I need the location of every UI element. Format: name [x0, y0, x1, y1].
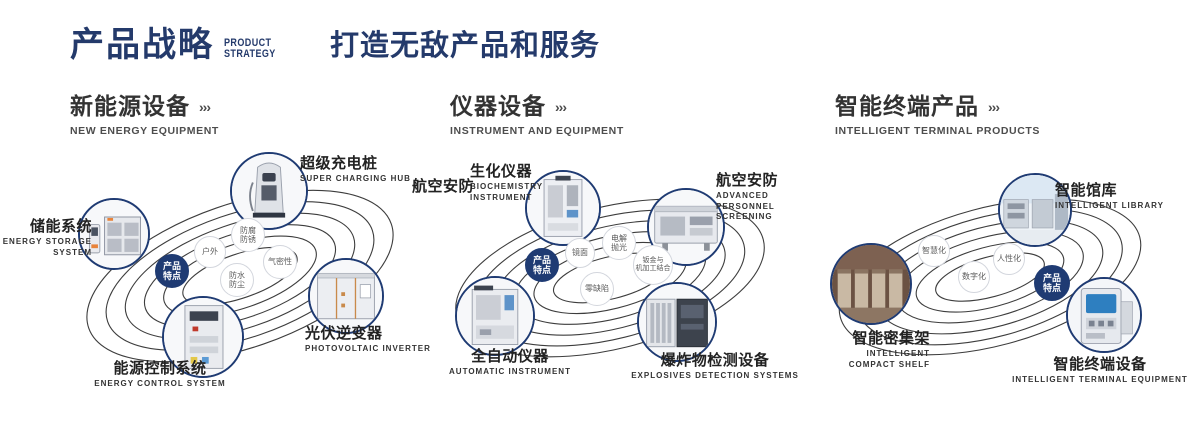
feature-line1: 镜面: [572, 248, 588, 257]
label-cn: 智能密集架: [790, 330, 930, 347]
label-super-charging-hub: 超级充电桩 SUPER CHARGING HUB: [300, 155, 430, 185]
feature-bubble[interactable]: 气密性: [263, 245, 297, 279]
feature-line1: 数字化: [962, 272, 986, 281]
label-en: AUTOMATIC INSTRUMENT: [430, 367, 590, 377]
section-title-en: NEW ENERGY EQUIPMENT: [70, 125, 219, 137]
feature-center-line2: 特点: [163, 271, 181, 281]
feature-center-line2: 特点: [533, 265, 551, 275]
inverter-cabinet-icon: [310, 260, 382, 332]
label-en: SUPER CHARGING HUB: [300, 174, 430, 184]
feature-line2: 机加工结合: [636, 265, 671, 273]
label-intelligent-library: 智能馆库 INTELLIGENT LIBRARY: [1055, 182, 1195, 212]
label-energy-storage-system: 储能系统 ENERGY STORAGE SYSTEM: [0, 218, 92, 258]
section-header-new-energy: 新能源设备 ››› NEW ENERGY EQUIPMENT: [70, 95, 219, 137]
label-cn: 全自动仪器: [430, 348, 590, 365]
label-en: INTELLIGENT LIBRARY: [1055, 201, 1195, 211]
label-energy-control-system: 能源控制系统 ENERGY CONTROL SYSTEM: [75, 360, 245, 390]
page-subtitle: 打造无敌产品和服务: [330, 30, 600, 63]
page-title-en: PRODUCT STRATEGY: [224, 38, 276, 60]
feature-center-bubble[interactable]: 产品 特点: [1034, 265, 1070, 301]
feature-center-bubble[interactable]: 产品 特点: [525, 248, 559, 282]
label-cn: 光伏逆变器: [305, 325, 435, 342]
feature-line1: 防水: [229, 271, 245, 280]
chevron-right-triple-icon: ›››: [555, 100, 566, 114]
node-automatic-instrument[interactable]: [455, 276, 535, 356]
label-biochemistry-instrument: 生化仪器 BIOCHEMISTRY INSTRUMENT: [470, 163, 580, 203]
feature-center-line2: 特点: [1043, 283, 1061, 293]
feature-line1: 电解: [611, 234, 627, 243]
feature-line1: 气密性: [268, 257, 292, 266]
label-cn: 智能终端设备: [1000, 356, 1200, 373]
feature-center-line1: 产品: [1043, 273, 1061, 283]
feature-bubble[interactable]: 人性化: [993, 243, 1025, 275]
feature-line1: 钣金与: [643, 257, 664, 265]
label-cn: 储能系统: [0, 218, 92, 235]
section-title-en: INSTRUMENT AND EQUIPMENT: [450, 125, 624, 137]
section-header-intelligent: 智能终端产品 ››› INTELLIGENT TERMINAL PRODUCTS: [835, 95, 1040, 137]
auto-instrument-icon: [457, 278, 533, 354]
label-en: PHOTOVOLTAIC INVERTER: [305, 344, 435, 354]
section-title-cn: 智能终端产品: [835, 95, 979, 118]
feature-bubble[interactable]: 零缺陷: [580, 272, 614, 306]
label-automatic-instrument: 全自动仪器 AUTOMATIC INSTRUMENT: [430, 348, 590, 378]
feature-line1: 智慧化: [922, 246, 946, 255]
label-en: BIOCHEMISTRY INSTRUMENT: [470, 182, 542, 203]
feature-bubble[interactable]: 智慧化: [918, 235, 950, 267]
label-cn: 生化仪器: [470, 163, 580, 180]
feature-line2: 抛光: [611, 243, 627, 252]
feature-bubble[interactable]: 电解 抛光: [602, 226, 636, 260]
label-explosives-detection-systems: 爆炸物检测设备 EXPLOSIVES DETECTION SYSTEMS: [615, 352, 815, 382]
section-header-instrument: 仪器设备 ››› INSTRUMENT AND EQUIPMENT: [450, 95, 624, 137]
section-title-cn: 仪器设备: [450, 95, 546, 118]
label-intelligent-terminal-equipment: 智能终端设备 INTELLIGENT TERMINAL EQUIPMENT: [1000, 356, 1200, 386]
label-en: INTELLIGENT COMPACT SHELF: [830, 349, 930, 370]
label-en: ENERGY STORAGE SYSTEM: [0, 237, 92, 258]
node-explosives-detection-systems[interactable]: [637, 282, 717, 362]
label-en: INTELLIGENT TERMINAL EQUIPMENT: [1000, 375, 1200, 385]
charging-pile-icon: [232, 154, 306, 228]
kiosk-terminal-icon: [1068, 279, 1140, 351]
feature-line1: 户外: [202, 247, 218, 256]
label-cn: 超级充电桩: [300, 155, 430, 172]
feature-line2: 防锈: [240, 235, 256, 244]
label-en: ADVANCED PERSONNEL SCREENING: [716, 191, 808, 222]
feature-bubble[interactable]: 防腐 防锈: [231, 218, 265, 252]
label-cn: 爆炸物检测设备: [615, 352, 815, 369]
node-intelligent-terminal-equipment[interactable]: [1066, 277, 1142, 353]
label-en: EXPLOSIVES DETECTION SYSTEMS: [615, 371, 815, 381]
label-en: ENERGY CONTROL SYSTEM: [75, 379, 245, 389]
section-title-cn: 新能源设备: [70, 95, 190, 118]
feature-bubble[interactable]: 钣金与 机加工结合: [633, 245, 673, 285]
node-intelligent-compact-shelf[interactable]: [830, 243, 912, 325]
compact-shelf-icon: [832, 245, 910, 323]
feature-bubble[interactable]: 户外: [194, 236, 226, 268]
feature-line1: 人性化: [997, 254, 1021, 263]
feature-bubble[interactable]: 防水 防尘: [220, 263, 254, 297]
feature-center-line1: 产品: [533, 255, 551, 265]
section-title-en: INTELLIGENT TERMINAL PRODUCTS: [835, 125, 1040, 137]
product-strategy-infographic: 产品战略 PRODUCT STRATEGY 打造无敌产品和服务 新能源设备 ››…: [0, 0, 1200, 422]
node-photovoltaic-inverter[interactable]: [308, 258, 384, 334]
label-intelligent-compact-shelf: 智能密集架 INTELLIGENT COMPACT SHELF: [790, 330, 930, 370]
label-advanced-personnel-screening: 航空安防 ADVANCED PERSONNEL SCREENING: [716, 172, 821, 222]
label-cn: 航空安防: [412, 178, 474, 195]
feature-center-line1: 产品: [163, 261, 181, 271]
label-cn: 智能馆库: [1055, 182, 1195, 199]
label-photovoltaic-inverter: 光伏逆变器 PHOTOVOLTAIC INVERTER: [305, 325, 435, 355]
feature-line1: 零缺陷: [585, 284, 609, 293]
label-aviation-security: 航空安防: [412, 178, 474, 195]
feature-line2: 防尘: [229, 280, 245, 289]
chevron-right-triple-icon: ›››: [199, 100, 210, 114]
feature-center-bubble[interactable]: 产品 特点: [155, 254, 189, 288]
label-cn: 航空安防: [716, 172, 821, 189]
label-cn: 能源控制系统: [75, 360, 245, 377]
page-title: 产品战略 PRODUCT STRATEGY: [70, 28, 287, 62]
page-title-cn: 产品战略: [70, 28, 214, 62]
feature-bubble[interactable]: 镜面: [565, 238, 595, 268]
detection-rack-icon: [639, 284, 715, 360]
page-title-en-line2: STRATEGY: [224, 49, 276, 60]
chevron-right-triple-icon: ›››: [988, 100, 999, 114]
feature-line1: 防腐: [240, 226, 256, 235]
feature-bubble[interactable]: 数字化: [958, 261, 990, 293]
